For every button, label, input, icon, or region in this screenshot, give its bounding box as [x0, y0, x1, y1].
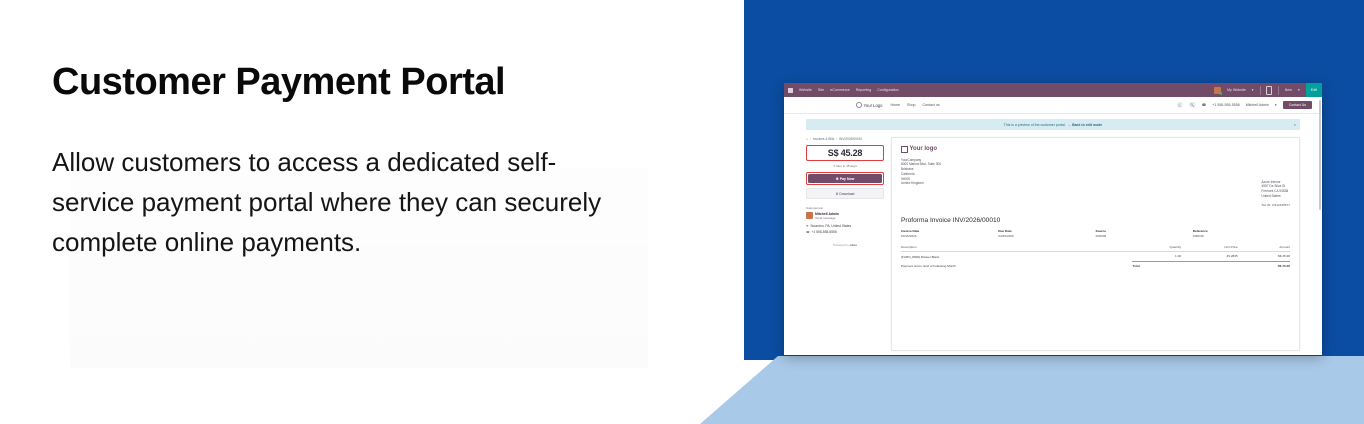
nav-shop[interactable]: Shop: [907, 103, 915, 107]
promo-banner: Customer Payment Portal Allow customers …: [0, 0, 1364, 424]
portal-body: ⌂ / Invoices & Bills / INV/2026/00010 S$…: [784, 130, 1322, 351]
pay-icon: ⚙: [836, 177, 839, 181]
invoice-title: Proforma Invoice INV/2026/00010: [901, 217, 1290, 224]
edit-button[interactable]: Edit: [1306, 83, 1322, 97]
header-phone[interactable]: +1 555-555-5556: [1212, 103, 1239, 107]
cell-quantity: 1.00: [1132, 251, 1181, 261]
backend-top-bar: Website Site eCommerce Reporting Configu…: [784, 83, 1322, 97]
cell-unit-price: 45.2835: [1181, 251, 1238, 261]
due-date-note: ⏱ Due in 45 days: [806, 164, 884, 168]
location-pin-icon: ⚑: [806, 224, 809, 228]
portal-sidebar: ⌂ / Invoices & Bills / INV/2026/00010 S$…: [806, 137, 884, 247]
invoice-addresses: YourCompany 8000 Marina Blvd, Suite 300 …: [901, 158, 1290, 208]
invoice-logo-text: Your logo: [910, 146, 938, 152]
customer-tax-id: Tax ID: US12345677: [1261, 203, 1290, 208]
pay-now-highlight: ⚙ Pay Now: [806, 172, 884, 185]
cell-amount: S$ 45.28: [1238, 251, 1290, 261]
mobile-preview-icon[interactable]: [1266, 86, 1272, 95]
field-label: Source: [1096, 229, 1193, 233]
image-placeholder-icon: [901, 146, 908, 153]
field-value: S00038: [1193, 234, 1290, 238]
total-row: Payment terms: End of Following Month To…: [901, 261, 1290, 271]
menu-configuration[interactable]: Configuration: [877, 88, 898, 92]
new-menu[interactable]: New: [1285, 88, 1292, 92]
header-user-caret-icon: ▾: [1275, 103, 1277, 107]
salesperson-location-text: Scranton, PA, United States: [810, 224, 851, 228]
scrollbar[interactable]: [1319, 100, 1321, 210]
divider: [1260, 86, 1261, 95]
invoice-document: Your logo YourCompany 8000 Marina Blvd, …: [891, 137, 1300, 351]
breadcrumb-invoices-bills[interactable]: Invoices & Bills: [813, 137, 834, 141]
breadcrumb-separator: /: [810, 137, 811, 141]
field-value: 04/30/2026: [998, 234, 1095, 238]
invoice-lines-table: Description Quantity Unit Price Amount […: [901, 245, 1290, 271]
salesperson-label: Salesperson: [806, 206, 884, 210]
new-menu-caret-icon: ▾: [1298, 88, 1300, 92]
pay-now-button[interactable]: ⚙ Pay Now: [808, 174, 882, 183]
table-row: [FURN_8900] Drawer Black 1.00 45.2835 S$…: [901, 251, 1290, 261]
powered-by: Powered by odoo: [806, 243, 884, 247]
breadcrumb: ⌂ / Invoices & Bills / INV/2026/00010: [806, 137, 884, 141]
phone-icon: ☎: [1202, 103, 1206, 107]
site-logo[interactable]: Your Logo: [856, 102, 882, 108]
customer-address: Azure Interior 4557 De Silva St Fremont …: [1261, 158, 1290, 208]
salesperson-location: ⚑ Scranton, PA, United States: [806, 224, 884, 228]
site-logo-text: Your Logo: [864, 103, 883, 108]
promo-copy: Customer Payment Portal Allow customers …: [52, 62, 612, 263]
menu-reporting[interactable]: Reporting: [856, 88, 872, 92]
nav-home[interactable]: Home: [890, 103, 900, 107]
site-header: Your Logo Home Shop Contact us 🛒 🔍 ☎ +1 …: [784, 97, 1322, 114]
menu-ecommerce[interactable]: eCommerce: [830, 88, 850, 92]
download-button[interactable]: ⬇ Download: [806, 188, 884, 199]
menu-site[interactable]: Site: [818, 88, 824, 92]
field-invoice-date: Invoice Date 03/16/2026: [901, 229, 998, 238]
field-label: Reference: [1193, 229, 1290, 233]
breadcrumb-current: INV/2026/00010: [839, 137, 862, 141]
company-address: YourCompany 8000 Marina Blvd, Suite 300 …: [901, 158, 941, 208]
back-to-edit-mode-link[interactable]: → Back to edit mode: [1068, 123, 1103, 127]
preview-banner: This is a preview of the customer portal…: [806, 119, 1300, 130]
divider: [1278, 86, 1279, 95]
due-date-text: Due in 45 days: [836, 164, 857, 168]
company-country: United Kingdom: [901, 181, 941, 186]
user-avatar-icon[interactable]: [1214, 87, 1221, 94]
odoo-brand-link[interactable]: odoo: [850, 243, 857, 247]
avatar: [806, 212, 813, 219]
payment-terms: Payment terms: End of Following Month: [901, 261, 1132, 271]
site-nav: Home Shop Contact us: [890, 103, 939, 107]
powered-by-text: Powered by: [833, 243, 849, 247]
field-label: Invoice Date: [901, 229, 998, 233]
field-source: Source S00038: [1096, 229, 1193, 238]
close-icon[interactable]: ×: [1294, 122, 1296, 127]
menu-website[interactable]: Website: [799, 88, 812, 92]
site-header-right: 🛒 🔍 ☎ +1 555-555-5556 Mitchell Admin ▾ C…: [1177, 101, 1312, 109]
shopping-cart-icon[interactable]: 🛒: [1177, 102, 1184, 109]
promo-description: Allow customers to access a dedicated se…: [52, 142, 612, 263]
contact-us-button[interactable]: Contact Us: [1283, 101, 1312, 109]
salesperson-card: Mitchell Admin Send message: [806, 212, 884, 221]
invoice-logo: Your logo: [901, 146, 1290, 153]
send-message-link[interactable]: Send message: [815, 216, 836, 220]
field-reference: Reference S00038: [1193, 229, 1290, 238]
breadcrumb-separator: /: [836, 137, 837, 141]
salesperson-phone: ☎ +1 555-555-5555: [806, 230, 884, 234]
phone-icon: ☎: [806, 230, 810, 234]
download-icon: ⬇: [836, 192, 839, 196]
preview-banner-text: This is a preview of the customer portal…: [1004, 123, 1066, 127]
cell-description: [FURN_8900] Drawer Black: [901, 251, 1132, 261]
pay-now-label: Pay Now: [840, 177, 855, 181]
apps-grid-icon[interactable]: [788, 88, 793, 93]
field-label: Due Date: [998, 229, 1095, 233]
page-title: Customer Payment Portal: [52, 62, 612, 104]
logo-mark-icon: [856, 102, 862, 108]
amount-due-box: S$ 45.28: [806, 145, 884, 161]
search-icon[interactable]: 🔍: [1189, 102, 1196, 109]
product-screenshot: Website Site eCommerce Reporting Configu…: [784, 83, 1322, 355]
nav-contact-us[interactable]: Contact us: [922, 103, 939, 107]
background-lightblue-angle: [700, 356, 1364, 424]
salesperson-phone-text[interactable]: +1 555-555-5555: [811, 230, 836, 234]
home-icon[interactable]: ⌂: [806, 137, 808, 141]
customer-country: United States: [1261, 194, 1290, 199]
invoice-fields: Invoice Date 03/16/2026 Due Date 04/30/2…: [901, 229, 1290, 238]
field-due-date: Due Date 04/30/2026: [998, 229, 1095, 238]
header-user[interactable]: Mitchell Admin: [1246, 103, 1269, 107]
field-value: 03/16/2026: [901, 234, 998, 238]
download-label: Download: [839, 192, 854, 196]
amount-due: S$ 45.28: [807, 148, 883, 158]
total-label: Total: [1132, 261, 1181, 271]
total-value: S$ 45.28: [1238, 261, 1290, 271]
website-selector-caret-icon: ▾: [1252, 88, 1254, 92]
field-value: S00038: [1096, 234, 1193, 238]
backend-top-bar-right: My Website ▾ New ▾ Edit: [1214, 83, 1322, 97]
website-selector[interactable]: My Website: [1227, 88, 1246, 92]
